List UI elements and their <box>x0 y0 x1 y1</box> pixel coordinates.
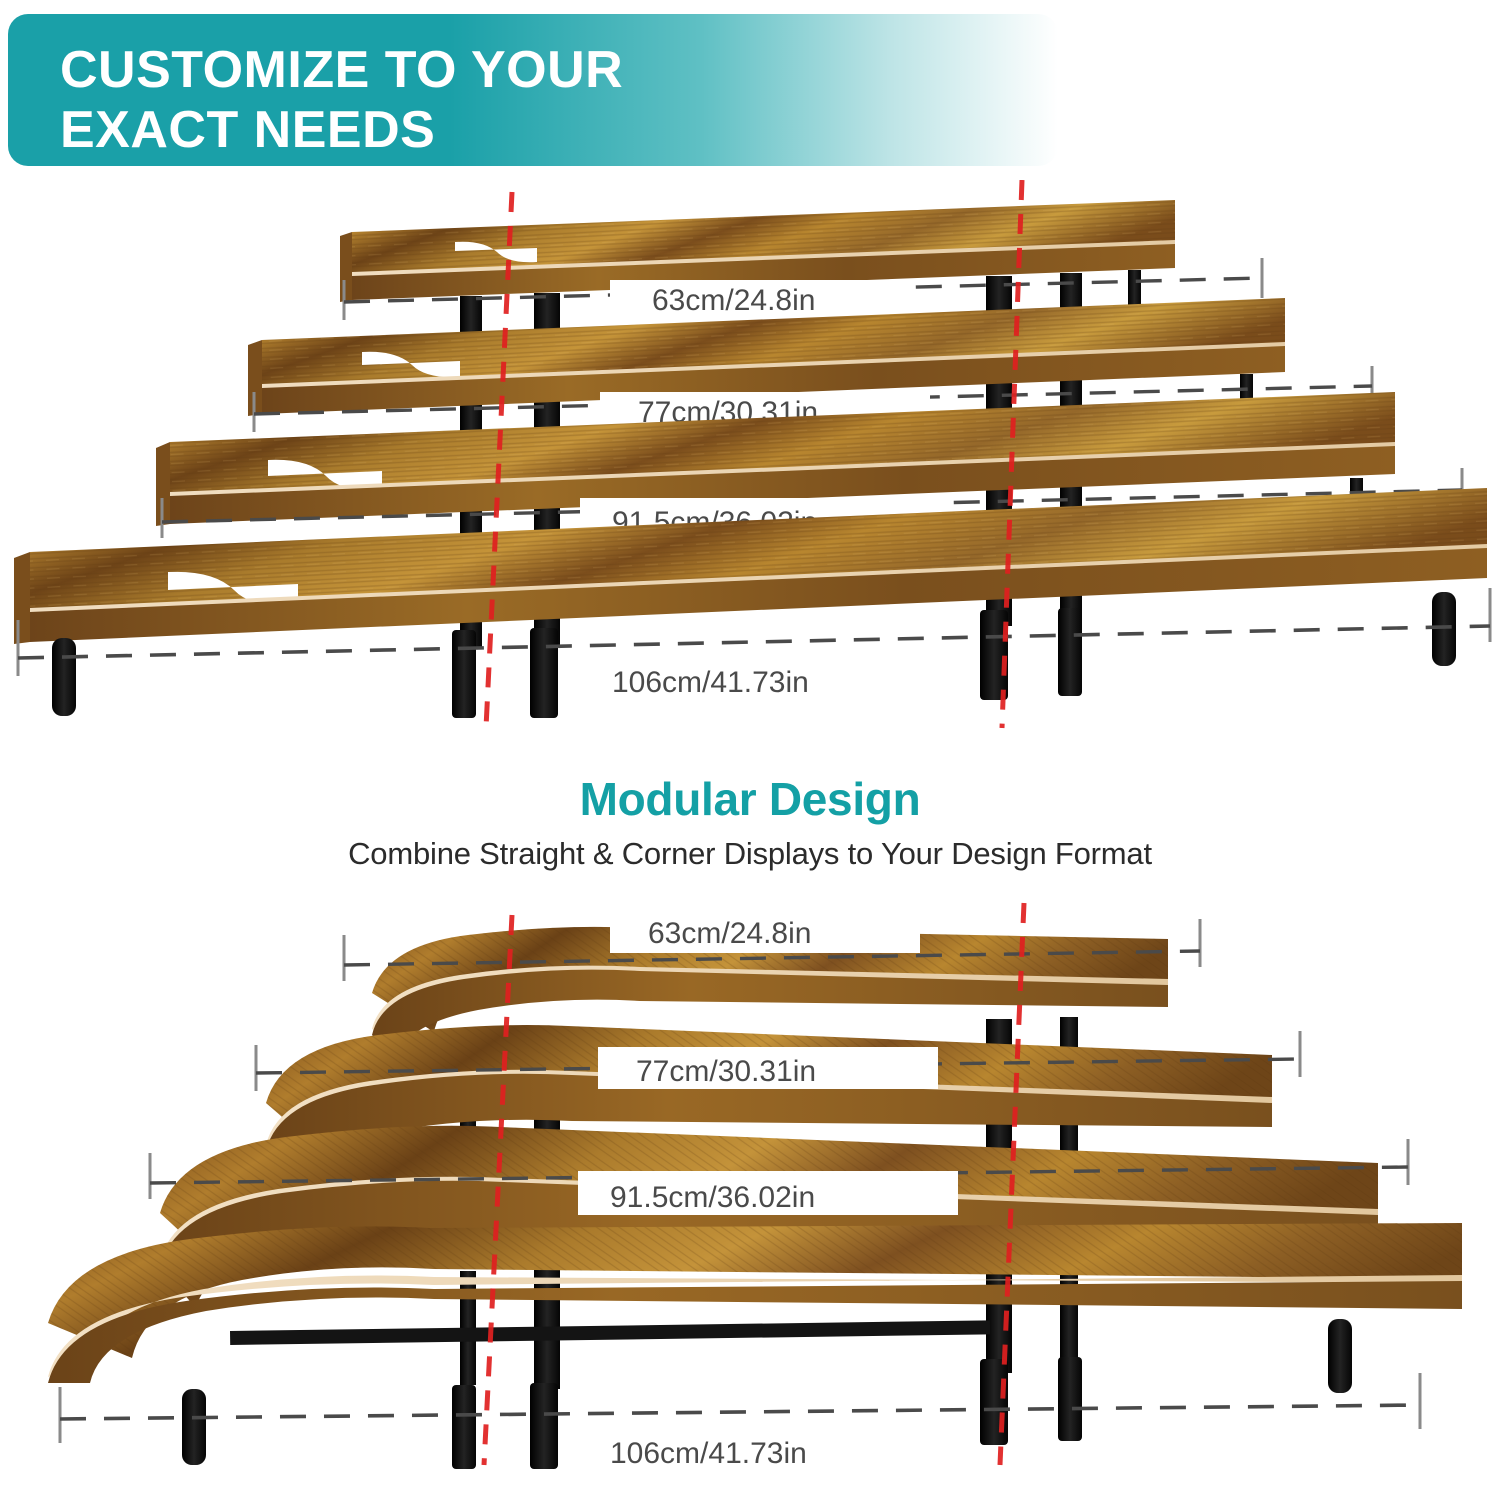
dimension-label-tier-4: 106cm/41.73in <box>612 666 809 699</box>
header-banner-text: CUSTOMIZE TO YOUR EXACT NEEDS <box>60 40 960 160</box>
corner-dimension-label-tier-4: 106cm/41.73in <box>610 1437 807 1470</box>
corner-dimension-line-tier-4: 106cm/41.73in <box>60 1373 1420 1470</box>
corner-dimension-label-tier-2: 77cm/30.31in <box>636 1055 816 1088</box>
header-line-2: EXACT NEEDS <box>60 100 960 160</box>
corner-dimension-label-tier-1: 63cm/24.8in <box>648 917 811 950</box>
straight-display-diagram: 63cm/24.8in 77cm/30.31in <box>0 180 1500 740</box>
section-title: Modular Design <box>0 772 1500 826</box>
corner-display-diagram: 63cm/24.8in 77cm/30.31in <box>0 895 1500 1475</box>
header-banner: CUSTOMIZE TO YOUR EXACT NEEDS <box>8 14 1058 166</box>
header-line-1: CUSTOMIZE TO YOUR <box>60 41 623 99</box>
dimension-label-tier-1: 63cm/24.8in <box>652 284 815 317</box>
straight-tier-4: 106cm/41.73in <box>14 488 1490 718</box>
corner-tier-4: 106cm/41.73in <box>48 1223 1462 1470</box>
section-subtitle: Combine Straight & Corner Displays to Yo… <box>0 836 1500 872</box>
corner-dimension-label-tier-3: 91.5cm/36.02in <box>610 1181 815 1214</box>
